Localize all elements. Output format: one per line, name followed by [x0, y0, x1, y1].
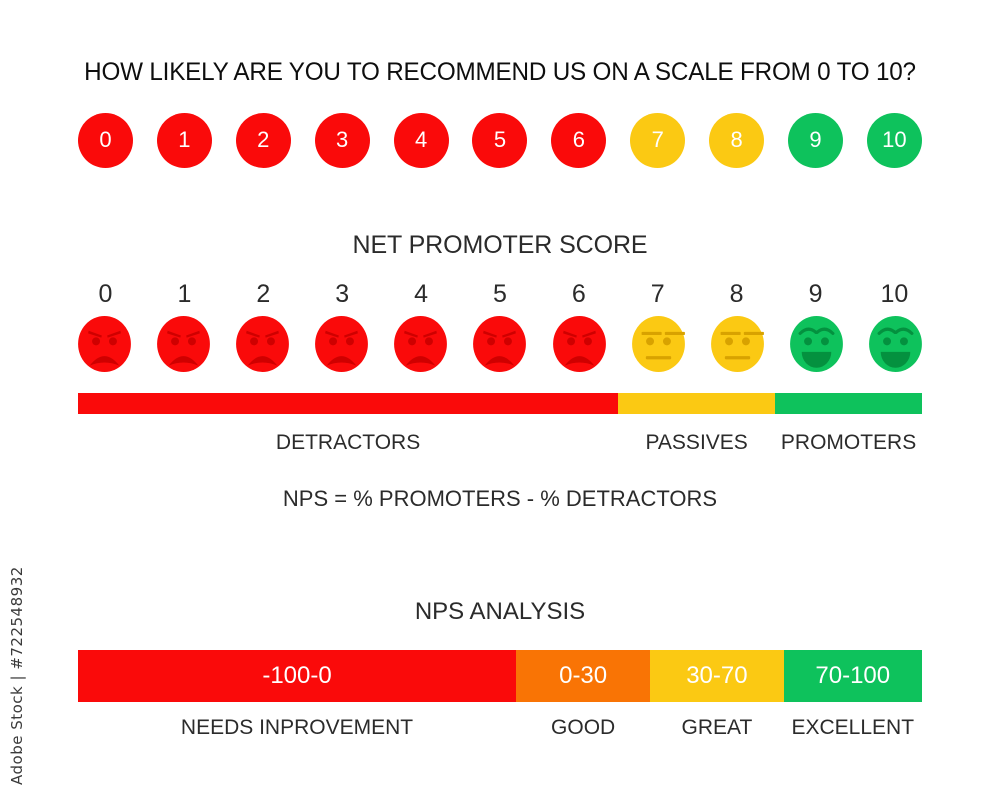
- nps-band-range: 0-30: [559, 664, 607, 688]
- score-number-2: 2: [236, 282, 291, 307]
- score-chip-row: 012345678910: [78, 111, 922, 169]
- score-chip-1[interactable]: 1: [157, 113, 212, 168]
- nps-band-needs-inprovement: -100-0: [78, 650, 516, 702]
- nps-band-range: 70-100: [815, 664, 890, 688]
- nps-formula: NPS = % PROMOTERS - % DETRACTORS: [0, 486, 1000, 512]
- sad-face-icon-4: [394, 316, 447, 372]
- score-chip-10[interactable]: 10: [867, 113, 922, 168]
- nps-segment-label-promoters: PROMOTERS: [775, 431, 922, 455]
- nps-segment-label-row: DETRACTORSPASSIVESPROMOTERS: [78, 431, 922, 457]
- score-number-8: 8: [709, 282, 764, 307]
- score-number-1: 1: [157, 282, 212, 307]
- score-chip-label: 1: [178, 129, 190, 151]
- score-chip-label: 6: [573, 129, 585, 151]
- score-chip-label: 2: [257, 129, 269, 151]
- nps-band-label-great: GREAT: [650, 716, 783, 740]
- nps-band-range: -100-0: [262, 664, 331, 688]
- sad-face-icon-1: [157, 316, 210, 372]
- score-chip-9[interactable]: 9: [788, 113, 843, 168]
- score-chip-label: 3: [336, 129, 348, 151]
- nps-band-great: 30-70: [650, 650, 783, 702]
- score-chip-0[interactable]: 0: [78, 113, 133, 168]
- nps-band-range: 30-70: [686, 664, 747, 688]
- score-chip-label: 0: [99, 129, 111, 151]
- adobe-stock-watermark: Adobe Stock | #722548932: [8, 555, 38, 785]
- score-number-10: 10: [867, 282, 922, 307]
- nps-segment-label-passives: PASSIVES: [618, 431, 775, 455]
- nps-analysis-bar: -100-00-3030-7070-100: [78, 650, 922, 702]
- score-number-0: 0: [78, 282, 133, 307]
- score-chip-8[interactable]: 8: [709, 113, 764, 168]
- net-promoter-score-heading: NET PROMOTER SCORE: [0, 231, 1000, 260]
- score-chip-6[interactable]: 6: [551, 113, 606, 168]
- nps-band-good: 0-30: [516, 650, 650, 702]
- nps-band-excellent: 70-100: [784, 650, 922, 702]
- score-chip-label: 4: [415, 129, 427, 151]
- score-number-4: 4: [394, 282, 449, 307]
- neutral-face-icon-8: [711, 316, 764, 372]
- nps-segment-label-detractors: DETRACTORS: [78, 431, 618, 455]
- score-number-5: 5: [472, 282, 527, 307]
- nps-band-label-excellent: EXCELLENT: [784, 716, 922, 740]
- score-chip-label: 8: [731, 129, 743, 151]
- score-number-6: 6: [551, 282, 606, 307]
- happy-face-icon-10: [869, 316, 922, 372]
- sad-face-icon-6: [553, 316, 606, 372]
- sad-face-icon-3: [315, 316, 368, 372]
- nps-analysis-heading: NPS ANALYSIS: [0, 598, 1000, 626]
- score-chip-7[interactable]: 7: [630, 113, 685, 168]
- score-number-row: 012345678910: [78, 279, 922, 309]
- score-chip-3[interactable]: 3: [315, 113, 370, 168]
- nps-segment-detractors: [78, 393, 618, 414]
- score-chip-label: 7: [652, 129, 664, 151]
- neutral-face-icon-7: [632, 316, 685, 372]
- nps-band-label-needs-inprovement: NEEDS INPROVEMENT: [78, 716, 516, 740]
- infographic-canvas: Adobe Stock | #722548932 HOW LIKELY ARE …: [0, 0, 1000, 800]
- score-number-3: 3: [315, 282, 370, 307]
- nps-segment-bar: [78, 393, 922, 414]
- score-number-7: 7: [630, 282, 685, 307]
- score-chip-2[interactable]: 2: [236, 113, 291, 168]
- nps-band-label-good: GOOD: [516, 716, 650, 740]
- sad-face-icon-0: [78, 316, 131, 372]
- happy-face-icon-9: [790, 316, 843, 372]
- sad-face-icon-5: [473, 316, 526, 372]
- score-chip-5[interactable]: 5: [472, 113, 527, 168]
- emoji-face-row: [78, 316, 922, 372]
- question-title: HOW LIKELY ARE YOU TO RECOMMEND US ON A …: [15, 58, 985, 87]
- sad-face-icon-2: [236, 316, 289, 372]
- nps-analysis-label-row: NEEDS INPROVEMENTGOODGREATEXCELLENT: [78, 716, 922, 744]
- score-chip-label: 10: [882, 129, 906, 151]
- score-chip-label: 9: [809, 129, 821, 151]
- nps-segment-promoters: [775, 393, 922, 414]
- score-chip-label: 5: [494, 129, 506, 151]
- nps-segment-passives: [618, 393, 775, 414]
- score-chip-4[interactable]: 4: [394, 113, 449, 168]
- score-number-9: 9: [788, 282, 843, 307]
